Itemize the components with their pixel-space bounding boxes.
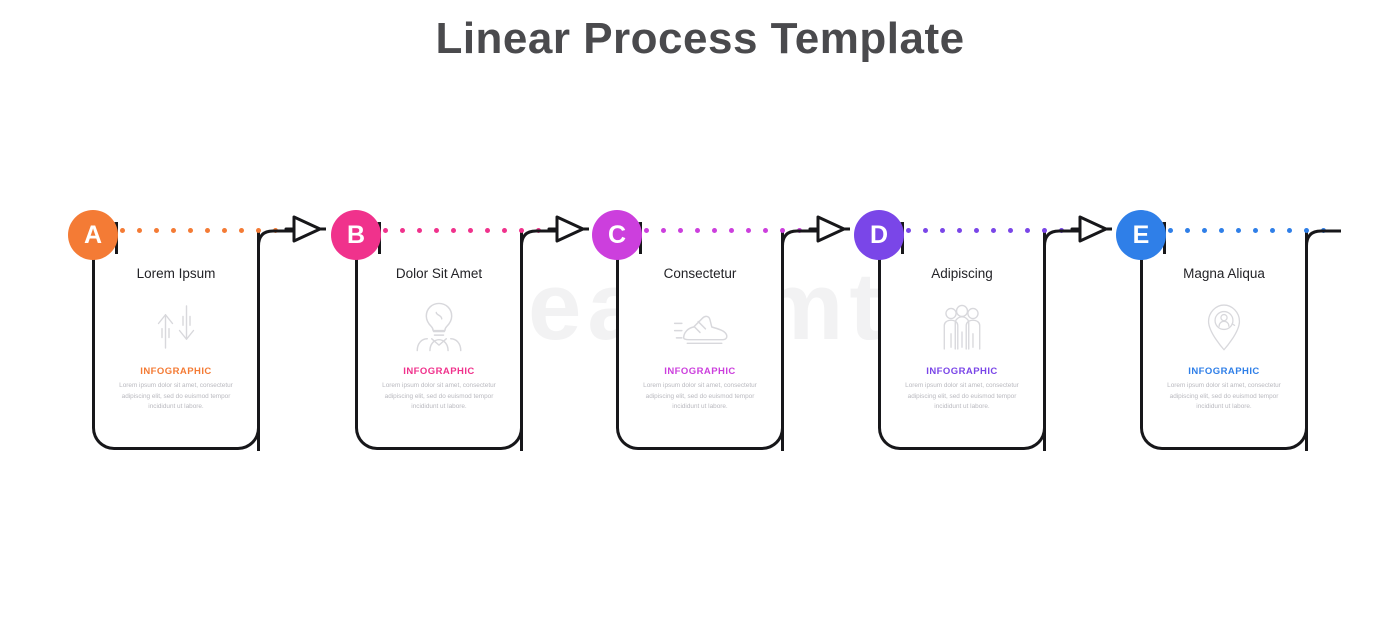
step-title: Dolor Sit Amet (367, 266, 511, 282)
step-kicker: INFOGRAPHIC (890, 366, 1034, 377)
process-steps-container: Lorem IpsumINFOGRAPHICLorem ipsum dolor … (0, 196, 1400, 464)
connector-dot (171, 228, 176, 233)
process-step-d[interactable]: AdipiscingINFOGRAPHICLorem ipsum dolor s… (848, 196, 1110, 464)
connector-dot (1202, 228, 1207, 233)
step-title: Magna Aliqua (1152, 266, 1296, 282)
connector-dot (940, 228, 945, 233)
arrow-head-icon (547, 214, 589, 244)
connector-dot (383, 228, 388, 233)
connector-dot (205, 228, 210, 233)
walking-shoe-step-icon (628, 296, 772, 358)
step-card[interactable]: Magna AliquaINFOGRAPHICLorem ipsum dolor… (1140, 232, 1308, 450)
step-card-content: AdipiscingINFOGRAPHICLorem ipsum dolor s… (881, 232, 1043, 447)
step-kicker: INFOGRAPHIC (1152, 366, 1296, 377)
step-card[interactable]: ConsecteturINFOGRAPHICLorem ipsum dolor … (616, 232, 784, 450)
connector-dot (137, 228, 142, 233)
step-card-content: Magna AliquaINFOGRAPHICLorem ipsum dolor… (1143, 232, 1305, 447)
connector-dot (991, 228, 996, 233)
step-kicker: INFOGRAPHIC (628, 366, 772, 377)
connector-dot (906, 228, 911, 233)
connector-dot (661, 228, 666, 233)
connector-dot (729, 228, 734, 233)
elbow-connector (520, 229, 556, 451)
connector-dot (695, 228, 700, 233)
step-description: Lorem ipsum dolor sit amet, consectetur … (890, 381, 1034, 412)
connector-dot (1287, 228, 1292, 233)
step-card[interactable]: AdipiscingINFOGRAPHICLorem ipsum dolor s… (878, 232, 1046, 450)
step-title: Consectetur (628, 266, 772, 282)
step-letter: C (608, 221, 626, 250)
step-letter-badge-c[interactable]: C (592, 210, 642, 260)
connector-dot (120, 228, 125, 233)
step-letter-badge-b[interactable]: B (331, 210, 381, 260)
process-step-c[interactable]: ConsecteturINFOGRAPHICLorem ipsum dolor … (586, 196, 848, 464)
step-letter: A (84, 221, 102, 250)
step-description: Lorem ipsum dolor sit amet, consectetur … (104, 381, 248, 412)
connector-dot (417, 228, 422, 233)
arrow-head-icon (808, 214, 850, 244)
process-step-e[interactable]: Magna AliquaINFOGRAPHICLorem ipsum dolor… (1110, 196, 1372, 464)
page-title: Linear Process Template (0, 14, 1400, 64)
step-card-content: Lorem IpsumINFOGRAPHICLorem ipsum dolor … (95, 232, 257, 447)
group-of-people-icon (890, 296, 1034, 358)
elbow-connector (781, 229, 817, 451)
step-card-content: ConsecteturINFOGRAPHICLorem ipsum dolor … (619, 232, 781, 447)
elbow-connector (257, 229, 293, 451)
connector-dot (434, 228, 439, 233)
step-letter: E (1133, 221, 1150, 250)
up-down-arrows-icon (104, 296, 248, 358)
connector-dot (1253, 228, 1258, 233)
connector-dot (451, 228, 456, 233)
step-description: Lorem ipsum dolor sit amet, consectetur … (1152, 381, 1296, 412)
connector-dot (239, 228, 244, 233)
arrow-head-icon (284, 214, 326, 244)
tail-connector (1305, 229, 1341, 451)
connector-dot (923, 228, 928, 233)
person-lightbulb-idea-icon (367, 296, 511, 358)
step-letter: B (347, 221, 365, 250)
connector-dot (400, 228, 405, 233)
step-title: Adipiscing (890, 266, 1034, 282)
step-title: Lorem Ipsum (104, 266, 248, 282)
connector-dot (957, 228, 962, 233)
connector-dot (1219, 228, 1224, 233)
connector-dot (1168, 228, 1173, 233)
connector-dot (1236, 228, 1241, 233)
connector-dot (678, 228, 683, 233)
process-step-a[interactable]: Lorem IpsumINFOGRAPHICLorem ipsum dolor … (62, 196, 324, 464)
connector-dot (222, 228, 227, 233)
step-card-content: Dolor Sit AmetINFOGRAPHICLorem ipsum dol… (358, 232, 520, 447)
connector-dot (468, 228, 473, 233)
elbow-connector (1043, 229, 1079, 451)
step-description: Lorem ipsum dolor sit amet, consectetur … (367, 381, 511, 412)
infographic-canvas: drea mtim Linear Process Template Lorem … (0, 0, 1400, 630)
connector-dot (485, 228, 490, 233)
map-pin-person-location-icon (1152, 296, 1296, 358)
connector-dot (1185, 228, 1190, 233)
step-letter: D (870, 221, 888, 250)
connector-dot (502, 228, 507, 233)
connector-dot (1008, 228, 1013, 233)
arrow-head-icon (1070, 214, 1112, 244)
connector-dot (644, 228, 649, 233)
step-kicker: INFOGRAPHIC (367, 366, 511, 377)
connector-dot (154, 228, 159, 233)
step-card[interactable]: Dolor Sit AmetINFOGRAPHICLorem ipsum dol… (355, 232, 523, 450)
connector-dot (746, 228, 751, 233)
step-letter-badge-e[interactable]: E (1116, 210, 1166, 260)
connector-dot (974, 228, 979, 233)
step-letter-badge-d[interactable]: D (854, 210, 904, 260)
connector-dot (1025, 228, 1030, 233)
process-step-b[interactable]: Dolor Sit AmetINFOGRAPHICLorem ipsum dol… (325, 196, 587, 464)
step-letter-badge-a[interactable]: A (68, 210, 118, 260)
step-card[interactable]: Lorem IpsumINFOGRAPHICLorem ipsum dolor … (92, 232, 260, 450)
step-description: Lorem ipsum dolor sit amet, consectetur … (628, 381, 772, 412)
connector-dot (188, 228, 193, 233)
connector-dot (1270, 228, 1275, 233)
step-kicker: INFOGRAPHIC (104, 366, 248, 377)
connector-dot (763, 228, 768, 233)
connector-dot (712, 228, 717, 233)
